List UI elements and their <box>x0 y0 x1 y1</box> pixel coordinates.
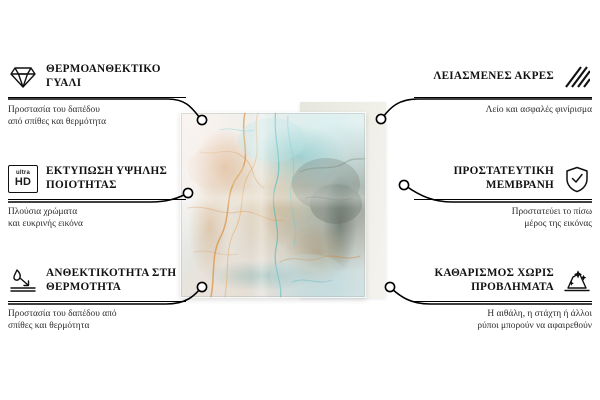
glass-panel <box>180 112 366 298</box>
feature-header: ΛΕΙΑΣΜΕΝΕΣ ΑΚΡΕΣ <box>414 62 592 92</box>
product-image <box>180 104 402 298</box>
feature-title: ΑΝΘΕΚΤΙΚΟΤΗΤΑ ΣΤΗ ΘΕΡΜΟΤΗΤΑ <box>46 267 186 294</box>
feature-description: Προστασία του δαπέδουαπό σπίθες και θερμ… <box>8 104 186 129</box>
feature-header: ΠΡΟΣΤΑΤΕΥΤΙΚΗ ΜΕΜΒΡΑΝΗ <box>414 164 592 194</box>
shield-check-icon <box>562 164 592 194</box>
feature-description: Πλούσια χρώματακαι ευκρινής εικόνα <box>8 206 186 231</box>
feature-polished-edges: ΛΕΙΑΣΜΕΝΕΣ ΑΚΡΕΣ Λείο και ασφαλές φινίρι… <box>414 62 592 116</box>
feature-divider <box>414 199 592 200</box>
feature-title: ΚΑΘΑΡΙΣΜΟΣ ΧΩΡΙΣ ΠΡΟΒΛΗΜΑΤΑ <box>414 267 554 294</box>
product-feature-infographic: ΘΕΡΜΟΑΝΘΕΚΤΙΚΟ ΓΥΑΛΙ Προστασία του δαπέδ… <box>0 0 600 400</box>
feature-divider <box>8 199 186 200</box>
sparkle-clean-icon <box>562 266 592 296</box>
hd-badge-hd-label: HD <box>15 177 31 188</box>
feature-header: ΘΕΡΜΟΑΝΘΕΚΤΙΚΟ ΓΥΑΛΙ <box>8 62 186 92</box>
marble-artwork <box>180 112 366 298</box>
feature-description: Λείο και ασφαλές φινίρισμα <box>414 104 592 116</box>
feature-divider <box>414 301 592 302</box>
hd-badge: ultra HD <box>8 165 38 193</box>
feature-easy-cleaning: ΚΑΘΑΡΙΣΜΟΣ ΧΩΡΙΣ ΠΡΟΒΛΗΜΑΤΑ Η αιθάλη, η … <box>414 266 592 333</box>
feature-divider <box>8 301 186 302</box>
feature-description: Η αιθάλη, η στάχτη ή άλλοιρύποι μπορούν … <box>414 308 592 333</box>
feature-header: ΑΝΘΕΚΤΙΚΟΤΗΤΑ ΣΤΗ ΘΕΡΜΟΤΗΤΑ <box>8 266 186 296</box>
feature-title: ΛΕΙΑΣΜΕΝΕΣ ΑΚΡΕΣ <box>414 70 554 84</box>
diamond-icon <box>8 62 38 92</box>
feature-heat-resistant-glass: ΘΕΡΜΟΑΝΘΕΚΤΙΚΟ ΓΥΑΛΙ Προστασία του δαπέδ… <box>8 62 186 129</box>
feature-high-quality-print: ultra HD ΕΚΤΥΠΩΣΗ ΥΨΗΛΗΣ ΠΟΙΟΤΗΤΑΣ Πλούσ… <box>8 164 186 231</box>
feature-title: ΘΕΡΜΟΑΝΘΕΚΤΙΚΟ ΓΥΑΛΙ <box>46 63 186 90</box>
diagonal-stripes-icon <box>562 62 592 92</box>
artwork-ink-veins <box>180 112 366 298</box>
feature-divider <box>414 97 592 98</box>
feature-divider <box>8 97 186 98</box>
feature-header: ΚΑΘΑΡΙΣΜΟΣ ΧΩΡΙΣ ΠΡΟΒΛΗΜΑΤΑ <box>414 266 592 296</box>
feature-title: ΕΚΤΥΠΩΣΗ ΥΨΗΛΗΣ ΠΟΙΟΤΗΤΑΣ <box>46 165 186 192</box>
feature-description: Προστασία του δαπέδου απόσπίθες και θερμ… <box>8 308 186 333</box>
ultra-hd-icon: ultra HD <box>8 164 38 194</box>
feature-protective-membrane: ΠΡΟΣΤΑΤΕΥΤΙΚΗ ΜΕΜΒΡΑΝΗ Προστατεύει το πί… <box>414 164 592 231</box>
flame-deflect-icon <box>8 266 38 296</box>
feature-title: ΠΡΟΣΤΑΤΕΥΤΙΚΗ ΜΕΜΒΡΑΝΗ <box>414 165 554 192</box>
feature-header: ultra HD ΕΚΤΥΠΩΣΗ ΥΨΗΛΗΣ ΠΟΙΟΤΗΤΑΣ <box>8 164 186 194</box>
feature-description: Προστατεύει το πίσωμέρος της εικόνας <box>414 206 592 231</box>
feature-heat-durability: ΑΝΘΕΚΤΙΚΟΤΗΤΑ ΣΤΗ ΘΕΡΜΟΤΗΤΑ Προστασία το… <box>8 266 186 333</box>
